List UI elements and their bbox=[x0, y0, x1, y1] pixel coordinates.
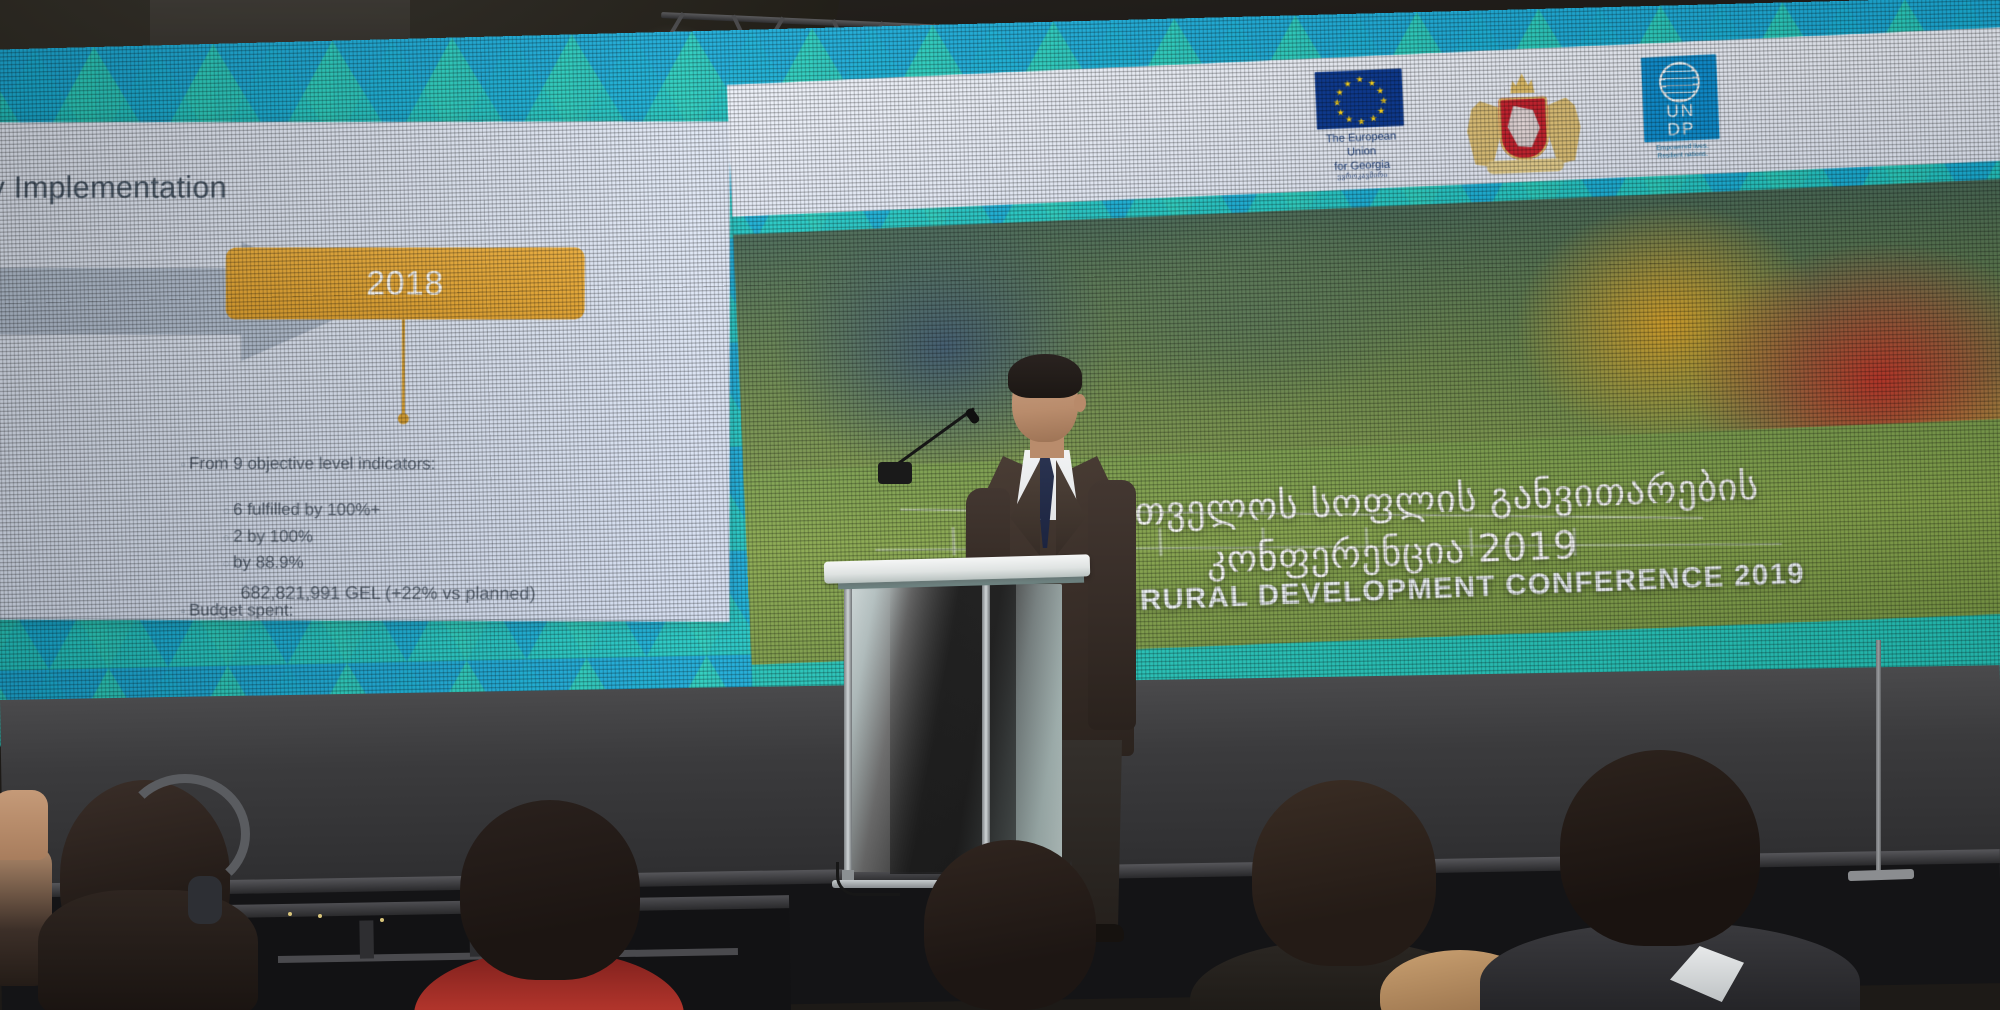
raised-hand bbox=[0, 790, 48, 860]
desk-light-reflection bbox=[318, 914, 322, 918]
motto-ribbon bbox=[1487, 158, 1565, 174]
undp-logo-icon: UN DP Empowered lives. Resilient nations… bbox=[1641, 54, 1721, 162]
podium-cable bbox=[836, 862, 900, 896]
audience-member-headphones bbox=[20, 780, 270, 1010]
audience-member-center bbox=[900, 840, 1130, 1010]
podium-rail-right bbox=[982, 580, 990, 876]
gooseneck-microphone bbox=[890, 468, 1000, 564]
column-2018-heading: From 9 objective level indicators: bbox=[181, 451, 660, 478]
connector-dot-2018 bbox=[398, 413, 409, 424]
budget-figure-2018: 682,821,991 GEL (+22% vs planned) bbox=[240, 583, 535, 605]
undp-letters-line2: DP bbox=[1644, 119, 1720, 140]
conference-photo-scene: ults of the Strategy Implementation 2017… bbox=[0, 0, 2000, 1010]
desk-light-reflection bbox=[380, 918, 384, 922]
lion-left-icon bbox=[1466, 100, 1503, 168]
european-union-flag-icon: ★ ★ ★ ★ ★ ★ ★ ★ ★ ★ ★ ★ bbox=[1315, 68, 1404, 129]
eu-caption-line1: The European Union bbox=[1317, 130, 1405, 162]
headphone-earcup bbox=[188, 876, 222, 924]
desk-light-reflection bbox=[288, 912, 292, 916]
podium-front-panel bbox=[890, 584, 1016, 874]
headphones-icon bbox=[120, 774, 250, 894]
column-2018-item: by 88.9% bbox=[223, 550, 660, 577]
head bbox=[460, 800, 640, 980]
mic-mount bbox=[878, 462, 912, 484]
globe-icon bbox=[1658, 61, 1700, 103]
floor-microphone-stand bbox=[1876, 640, 1881, 878]
undp-box: UN DP bbox=[1641, 54, 1720, 142]
logo-row: ★ ★ ★ ★ ★ ★ ★ ★ ★ ★ ★ ★ bbox=[1315, 54, 1722, 191]
year-chip-2018: 2018 bbox=[226, 247, 585, 319]
audience-member-suit bbox=[1520, 750, 1820, 1010]
slide-title: ults of the Strategy Implementation bbox=[0, 170, 227, 206]
lion-right-icon bbox=[1545, 97, 1582, 165]
eu-caption: The European Union for Georgia ევროკავში… bbox=[1317, 130, 1406, 184]
right-arm bbox=[1088, 480, 1136, 730]
slide-strategy-results: ults of the Strategy Implementation 2017… bbox=[0, 121, 730, 622]
column-2018-item: 6 fulfilled by 100%+ bbox=[223, 497, 660, 524]
crown-icon bbox=[1509, 71, 1534, 94]
head bbox=[1560, 750, 1760, 946]
head bbox=[1252, 780, 1436, 966]
undp-caption: Empowered lives. Resilient nations. bbox=[1645, 142, 1721, 162]
year-2018-label: 2018 bbox=[366, 264, 443, 303]
audience-member-red-jacket bbox=[440, 800, 670, 1010]
head bbox=[924, 840, 1096, 1010]
georgia-coat-of-arms-icon bbox=[1460, 60, 1587, 184]
desk-leg bbox=[359, 920, 374, 958]
speaker-podium bbox=[832, 558, 1082, 888]
podium-rail-left bbox=[844, 580, 852, 876]
eu-logo: ★ ★ ★ ★ ★ ★ ★ ★ ★ ★ ★ ★ bbox=[1315, 68, 1407, 183]
connector-line-2018 bbox=[402, 319, 405, 417]
long-hair bbox=[38, 890, 258, 1010]
ear bbox=[1074, 394, 1086, 412]
column-2018-item: 2 by 100% bbox=[223, 523, 660, 550]
undp-letters: UN DP bbox=[1643, 101, 1720, 141]
hair bbox=[1008, 354, 1082, 398]
